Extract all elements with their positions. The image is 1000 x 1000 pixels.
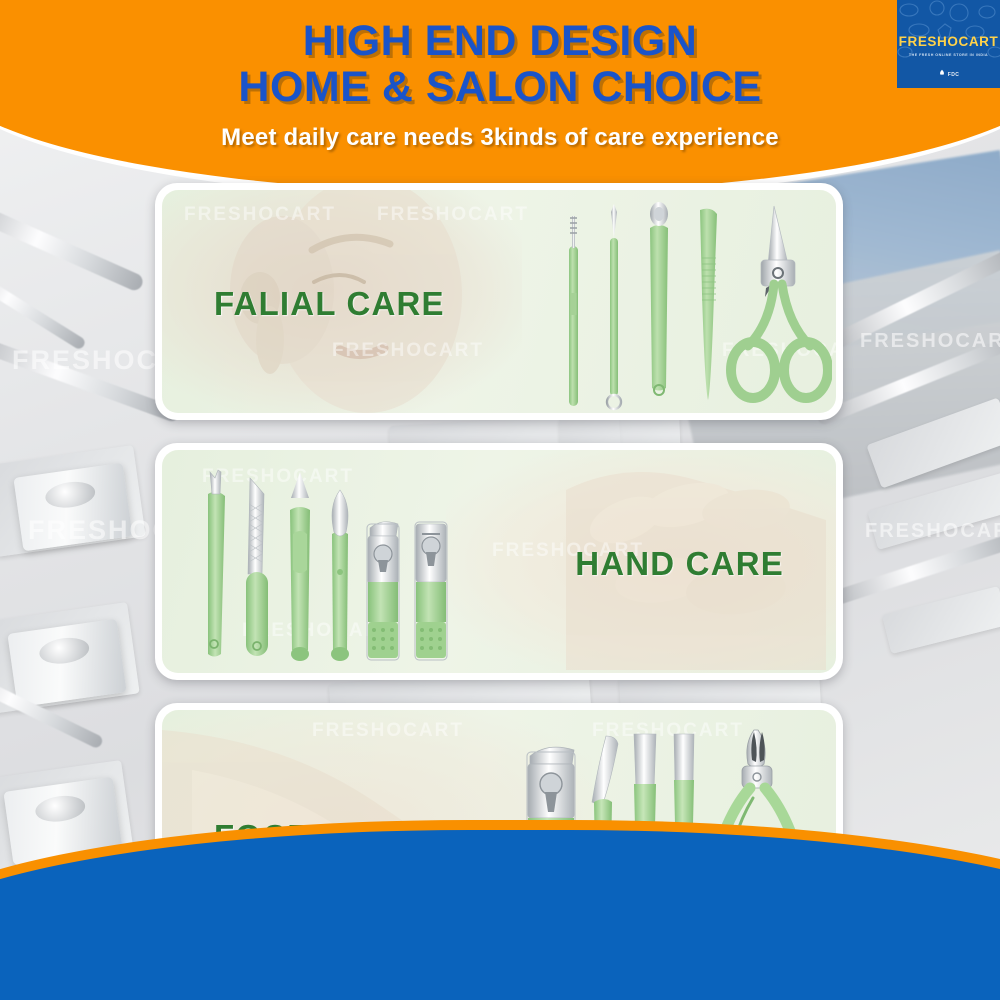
badge-mark: FDC <box>897 69 1000 78</box>
tweezers-icon <box>700 209 717 400</box>
panel-label-facial: FALIAL CARE <box>214 285 445 323</box>
nail-clipper-open-icon <box>367 522 399 660</box>
background-plate <box>882 586 1000 654</box>
comedone-curette-icon <box>650 202 668 395</box>
hand-tools-group <box>192 464 452 669</box>
panel-watermark: FRESHOCART <box>377 204 529 226</box>
v-cutter-icon <box>208 470 225 657</box>
panel-label-hand: HAND CARE <box>575 545 784 583</box>
page-title: HIGH END DESIGN HOME & SALON CHOICE <box>0 20 1000 108</box>
title-line-2: HOME & SALON CHOICE <box>0 66 1000 108</box>
panel-watermark: FRESHOCART <box>332 340 484 362</box>
panel-facial-inner: FRESHOCART FRESHOCART FRESHOCART FRESHOC… <box>162 190 836 413</box>
cuticle-pusher-icon <box>290 472 310 661</box>
cuticle-scissors-icon <box>731 206 828 398</box>
background-clipper <box>7 619 126 708</box>
ear-pick-spiral-icon <box>569 216 578 406</box>
spoon-pusher-icon <box>331 490 349 661</box>
nail-file-icon <box>246 478 268 656</box>
blackhead-needle-icon <box>607 204 621 409</box>
footer-blue-band <box>0 830 1000 1000</box>
badge-mark-label: FDC <box>948 72 959 78</box>
leaf-icon <box>938 69 946 77</box>
background-watermark: FRESHOCART <box>860 330 1000 353</box>
panel-watermark: FRESHOCART <box>184 204 336 226</box>
badge-tagline: THE FRESH ONLINE STORE IN INDIA <box>897 53 1000 57</box>
brand-badge[interactable]: FRESHOCART THE FRESH ONLINE STORE IN IND… <box>897 0 1000 88</box>
title-line-1: HIGH END DESIGN <box>303 17 698 65</box>
nail-clipper-closed-icon <box>415 522 447 660</box>
panel-hand-inner: FRESHOCART FRESHOCART FRESHOCART <box>162 450 836 673</box>
page-subtitle: Meet daily care needs 3kinds of care exp… <box>0 124 1000 152</box>
panel-watermark: FRESHOCART <box>312 720 464 742</box>
footer-banner <box>0 810 1000 1000</box>
background-watermark: FRESHOCART <box>865 520 1000 543</box>
product-infographic: FRESHOCART FRESHOCART FRESHOCART FRESHOC… <box>0 0 1000 1000</box>
panel-hand-care[interactable]: FRESHOCART FRESHOCART FRESHOCART <box>155 443 843 680</box>
background-tool <box>0 261 87 351</box>
panel-facial-care[interactable]: FRESHOCART FRESHOCART FRESHOCART FRESHOC… <box>155 183 843 420</box>
facial-tools-group <box>552 198 832 413</box>
badge-brand-name: FRESHOCART <box>897 34 1000 49</box>
